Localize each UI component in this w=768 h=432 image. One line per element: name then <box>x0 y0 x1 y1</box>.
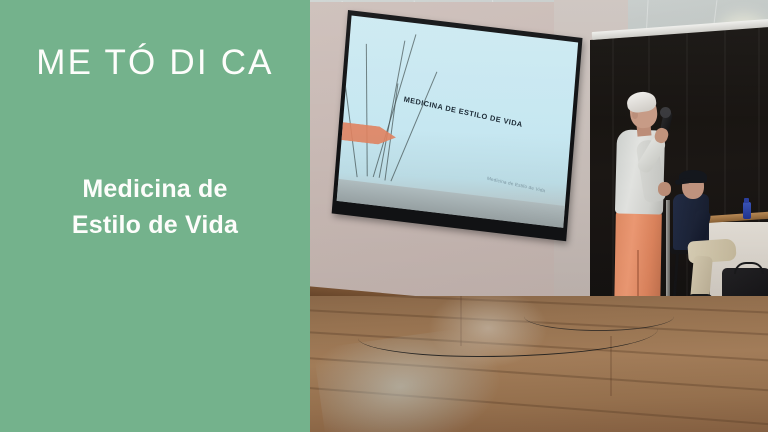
page-title: ME TÓ DI CA <box>0 44 310 83</box>
floor-cable-secondary <box>524 302 674 331</box>
bottle-cap <box>744 198 749 203</box>
projection-screen: MEDICINA DE ESTILO DE VIDA Medicina de E… <box>332 10 583 241</box>
presentation-thumbnail: ME TÓ DI CA Medicina de Estilo de Vida <box>0 0 768 432</box>
speaker-hand-lower <box>658 182 671 196</box>
microphone-head <box>660 107 671 118</box>
subtitle-line-2: Estilo de Vida <box>0 208 310 244</box>
page-subtitle: Medicina de Estilo de Vida <box>0 172 310 243</box>
subtitle-line-1: Medicina de <box>0 172 310 208</box>
slide-heading: MEDICINA DE ESTILO DE VIDA <box>379 89 547 134</box>
water-bottle <box>743 202 751 219</box>
wooden-floor <box>310 296 768 432</box>
lecture-room-photo: MEDICINA DE ESTILO DE VIDA Medicina de E… <box>310 0 768 432</box>
bag-handle <box>734 262 764 274</box>
projection-screen-surface: MEDICINA DE ESTILO DE VIDA Medicina de E… <box>337 15 578 227</box>
title-panel: ME TÓ DI CA Medicina de Estilo de Vida <box>0 0 310 432</box>
slide-watermark: Medicina de Estilo de Vida <box>487 176 546 194</box>
